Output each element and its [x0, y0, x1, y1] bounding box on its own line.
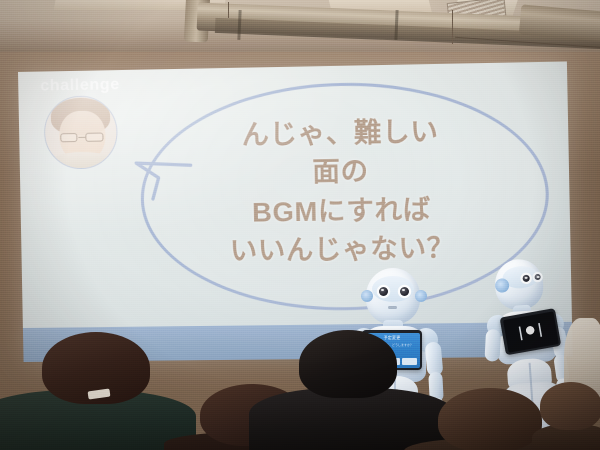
robot-eye-left — [379, 287, 388, 296]
avatar-shirt — [50, 152, 113, 170]
robot-tablet-graphic-icon — [516, 323, 544, 341]
robot-ear-left — [361, 290, 373, 302]
presentation-photo-scene: んじゃ、難しい 面の BGMにすれば いいんじゃない？ challenge — [0, 0, 600, 450]
robot-ear-right — [415, 290, 427, 302]
slide-footer-text: challenge — [40, 76, 120, 96]
audience-head — [540, 382, 600, 430]
audience-member-center — [255, 338, 435, 450]
glasses-lens-left — [60, 132, 77, 142]
audience-head — [299, 330, 397, 398]
glasses-lens-right — [86, 132, 103, 142]
ceiling-wire — [228, 2, 229, 18]
robot-tablet-screen[interactable] — [502, 311, 558, 352]
presenter-avatar — [43, 95, 118, 169]
audience-member-left — [0, 345, 180, 450]
ceiling-wire — [452, 10, 453, 44]
slide-text-line-4: いいんじゃない？ — [172, 228, 514, 271]
slide-text-line-3: BGMにすれば — [171, 189, 513, 233]
duct-seam — [237, 10, 241, 40]
audience-head — [438, 388, 542, 450]
slide-text-line-2: 面の — [170, 150, 512, 194]
audience-member-far-right — [536, 384, 600, 450]
robot-eye-right — [400, 287, 409, 296]
robot-upper-arm-left — [484, 329, 501, 362]
ceiling — [0, 0, 600, 58]
glasses-icon — [60, 132, 103, 142]
slide-text-block: んじゃ、難しい 面の BGMにすれば いいんじゃない？ — [170, 111, 515, 271]
slide-text-line-1: んじゃ、難しい — [170, 111, 512, 156]
glasses-bridge — [78, 137, 85, 138]
robot-mouth — [388, 306, 397, 309]
